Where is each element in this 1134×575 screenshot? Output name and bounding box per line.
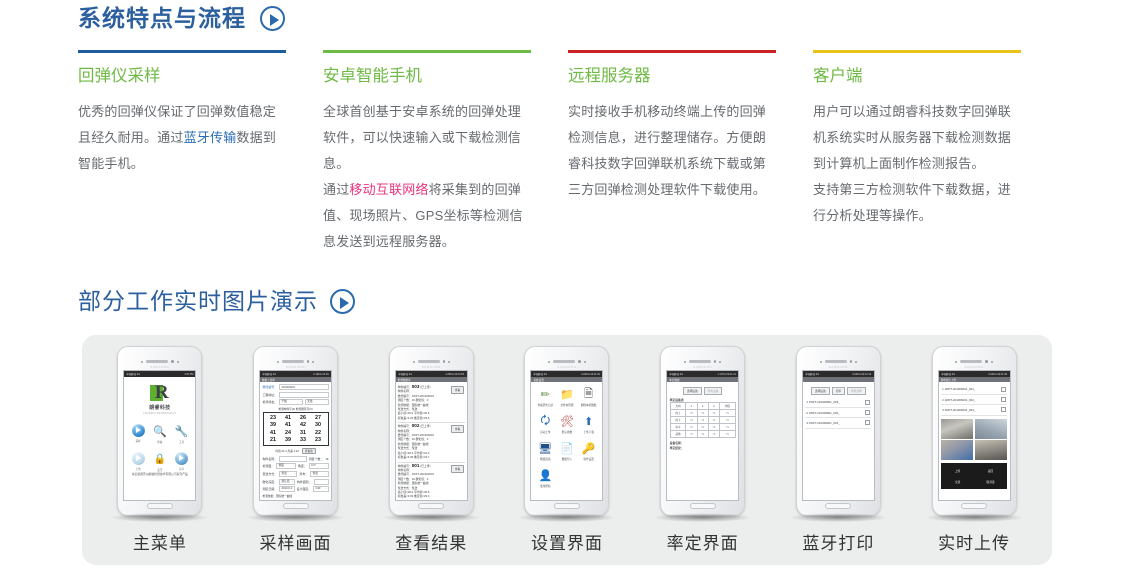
updown-icon: ⬆ <box>582 415 595 428</box>
speaker-grille <box>960 360 982 363</box>
print-screen: 选择设备 打印 所有选择 1 JWFT-201306001_003_ 2 JWF… <box>803 382 874 431</box>
phone-screen: 中国移动 4G 2.25K/s 00:10:53 检测数据库 构件编号：003 … <box>395 370 468 501</box>
chevron-right-icon: › <box>293 463 294 469</box>
menu-item-view[interactable]: 🔍 查看 <box>149 424 171 444</box>
settings-item-network[interactable]: 🖥 网络选项 <box>534 442 556 461</box>
settings-item-help[interactable]: 👤 使用帮助 <box>534 469 556 488</box>
play-circle-icon[interactable] <box>260 6 285 31</box>
settings-label: 自动上传 <box>540 430 550 434</box>
cell-value[interactable]: 79 <box>686 424 697 431</box>
surface-select[interactable]: 侧面› <box>276 463 296 469</box>
list-item-label: 3 JWFT-201306001_003_ <box>942 408 975 412</box>
settings-label: 查看历史记录 <box>538 403 554 407</box>
rebound-value: 24 <box>285 430 291 436</box>
record-line: 标准差=4.29 推定值=29.6 <box>398 416 465 420</box>
cell-value: 79 <box>719 424 735 431</box>
settings-item-defaults[interactable]: 🛠 默认参数 <box>556 415 578 434</box>
address-input[interactable] <box>279 392 329 398</box>
phone-mockup-sampling[interactable]: SAMSUNG 中国移动 4G 0.19K/s 01:03 数据上送单 委托编号… <box>236 346 356 554</box>
form-row-pump: 泵送方式： 泵送› 筹布： 泵送› <box>263 471 329 477</box>
column-title: 安卓智能手机 <box>323 67 533 85</box>
photo-core-drill[interactable] <box>941 419 973 439</box>
row-direction: 水平 <box>670 424 686 431</box>
phone-screen: 中国移动 4G 1.17K/s 00:11:21 率定数据 选择设备 所有设备 … <box>666 370 739 501</box>
form-row-carbonation: 碳化深度： 默认值› 构件面积： <box>263 479 329 485</box>
phone-caption: 实时上传 <box>938 529 1010 554</box>
phone-mockup-main-menu[interactable]: SAMSUNG 中国移动 4G 4:30 PM R 朗睿科技 LANGRUI T… <box>100 346 220 554</box>
rebound-value: 41 <box>270 430 276 436</box>
phone-earpiece <box>395 358 468 365</box>
record-no: 001 <box>412 463 420 468</box>
column-header: 均值 <box>719 403 735 410</box>
table-row: 向下 79 79 79 79 <box>670 417 735 424</box>
phone-earpiece <box>802 358 875 365</box>
tab-print[interactable]: 打印 <box>832 387 845 395</box>
phone-frame: SAMSUNG 中国移动 4G 0.19K/s 01:03 数据上送单 委托编号… <box>253 346 338 516</box>
field-label: 检测面： <box>263 464 275 468</box>
sensor-dot-icon <box>141 361 143 363</box>
led-dot-icon <box>855 361 857 363</box>
status-carrier: 中国移动 4G <box>670 372 684 376</box>
column-body: 实时接收手机移动终端上传的回弹检测信息，进行整理储存。方便朗睿科技数字回弹联机系… <box>568 99 778 203</box>
help-icon: 👤 <box>539 469 552 482</box>
home-button[interactable] <box>418 503 444 509</box>
tab-select-device[interactable]: 选择设备 <box>683 387 702 395</box>
cloud-icon <box>132 452 145 465</box>
chevron-right-icon: › <box>326 486 327 492</box>
result-record[interactable]: 构件编号：002 (已上传) 构件名称： 委托编号：JWFT-201303001… <box>398 423 465 462</box>
rebound-value: 22 <box>315 430 321 436</box>
speaker-grille <box>282 360 304 363</box>
back-button[interactable]: 返回 <box>974 469 1007 473</box>
column-body: 用户可以通过朗睿科技数字回弹联机系统实时从服务器下载检测数据到计算机上面制作检测… <box>813 99 1023 229</box>
phone-caption: 率定界面 <box>667 529 739 554</box>
phone-screen: 中国移动 4G 0.19K/s 01:03 数据上送单 委托编号： 201303… <box>259 370 332 501</box>
status-carrier: 中国移动 4G <box>805 372 819 376</box>
sensor-dot-icon <box>277 361 279 363</box>
layout-select[interactable]: 泵送› <box>310 471 328 477</box>
menu-icon-grid: 采样 🔍 查看 🔧 工具 <box>127 424 192 472</box>
settings-item-import[interactable]: 📄 数据导入 <box>556 442 578 461</box>
deselect-button[interactable]: 取消选 <box>974 480 1007 484</box>
led-dot-icon <box>584 361 586 363</box>
settings-screen: ✏ 查看历史记录 📁 文件夹管理 🗎 删除本机数据 <box>531 382 602 488</box>
record-line: 标准差=4.99 推定值=23.7 <box>398 455 465 459</box>
rebound-value: 23 <box>270 415 276 421</box>
logo-company-cn: 朗睿科技 <box>149 404 170 411</box>
menu-label: 上传 <box>136 467 141 471</box>
home-button[interactable] <box>554 503 580 509</box>
field-label: 测区日期： <box>263 487 277 491</box>
tools-icon: 🔧 <box>175 424 189 438</box>
rebound-value: 33 <box>300 437 306 443</box>
sync-icon: 🗘 <box>539 415 552 428</box>
chevron-right-icon: › <box>295 471 296 477</box>
settings-item-folder[interactable]: 📁 文件夹管理 <box>556 388 578 407</box>
import-icon: 📄 <box>560 442 573 455</box>
table-row: 水平 79 79 79 79 <box>670 424 735 431</box>
phone-caption: 设置界面 <box>531 529 603 554</box>
pencil-icon: ✏ <box>539 388 552 401</box>
list-item[interactable]: 2 JWFT-201306001_002_ <box>941 395 1007 405</box>
camera-dot-icon <box>714 360 717 363</box>
camera-dot-icon <box>578 360 581 363</box>
phone-frame: SAMSUNG 中国移动 4G 0.00K/s 00:11:02 系统设置 ✏ <box>524 346 609 516</box>
column-header: 3 <box>708 403 719 410</box>
view-record-button[interactable]: 查看 <box>451 465 463 473</box>
view-record-button[interactable]: 查看 <box>451 386 463 394</box>
body-paragraph-1: 实时接收手机移动终端上传的回弹检测信息，进行整理储存。方便朗睿科技数字回弹联机系… <box>568 99 778 203</box>
pump-select[interactable]: 泵送› <box>279 471 297 477</box>
key-icon: 🔑 <box>582 442 595 455</box>
field-label-2: 角度： <box>298 464 307 468</box>
cell-value[interactable]: 79 <box>697 431 708 438</box>
list-item[interactable]: 2 JWFT-201306001_002_ <box>805 408 871 418</box>
cell-value[interactable]: 79 <box>708 424 719 431</box>
speaker-grille <box>418 360 440 363</box>
speaker-grille <box>553 360 575 363</box>
cell-value[interactable]: 79 <box>708 431 719 438</box>
table-header-row: 方向 1 2 3 均值 <box>670 403 735 410</box>
chevron-right-icon: › <box>326 399 327 405</box>
select-value: 2013-6-1 <box>282 486 293 492</box>
settings-label: 文件夹管理 <box>560 403 573 407</box>
result-record[interactable]: 构件编号：001 (已上传) 构件名称： 委托编号：JWFT-201303001… <box>398 463 465 502</box>
home-button[interactable] <box>690 503 716 509</box>
tab-select-all[interactable]: 所有选择 <box>847 387 866 395</box>
view-values-button[interactable]: 查看值 <box>302 448 316 454</box>
strength-select[interactable]: C30› <box>313 486 329 492</box>
checkbox[interactable] <box>1001 397 1006 402</box>
langrui-logo-icon: R <box>150 383 170 403</box>
form-row-component: 构件名称： 测区个数： 16 <box>263 456 329 462</box>
select-all-button[interactable]: 全选 <box>941 480 974 484</box>
home-button[interactable] <box>825 503 851 509</box>
feature-column-3: 远程服务器 实时接收手机移动终端上传的回弹检测信息，进行整理储存。方便朗睿科技数… <box>568 50 813 255</box>
select-value: 默认值 <box>282 479 290 485</box>
rebound-value: 39 <box>270 422 276 428</box>
rebound-value: 31 <box>300 430 306 436</box>
standard-footer: 检测依据：国家统一曲线 <box>263 494 329 498</box>
app-title: 现场照片上传 <box>941 378 957 382</box>
cell-value[interactable]: 79 <box>697 410 708 417</box>
record-no: 003 <box>412 384 420 389</box>
status-clock: 4:30 PM <box>184 373 193 376</box>
checkbox[interactable] <box>865 410 870 415</box>
feature-column-1: 回弹仪采样 优秀的回弹仪保证了回弹数值稳定且经久耐用。通过蓝牙传输数据到智能手机… <box>78 50 323 255</box>
cell-value[interactable]: 79 <box>686 410 697 417</box>
phone-frame: SAMSUNG 中国移动 4G 0.00K/s 00:12:13 选择设备 打印… <box>796 346 881 516</box>
play-circle-icon[interactable] <box>330 289 355 314</box>
photo-rebound-hammer[interactable] <box>975 440 1007 460</box>
photo-grid <box>941 419 1007 461</box>
calibration-result-label: 率定结论： <box>670 446 736 451</box>
tab-select-device[interactable]: 选择设备 <box>811 387 830 395</box>
column-rule <box>323 50 531 53</box>
list-item[interactable]: 1 JWFT-201306001_003_ <box>805 398 871 408</box>
chevron-right-icon: › <box>326 471 327 477</box>
results-list: 构件编号：003 (已上传) 构件名称： 委托编号：JWFT-201303001… <box>396 382 467 501</box>
menu-item-upload[interactable]: 上传 <box>127 452 149 472</box>
rebound-value: 26 <box>300 415 306 421</box>
speaker-grille <box>689 360 711 363</box>
upload-button[interactable]: 上传 <box>941 469 974 473</box>
status-carrier: 中国移动 4G <box>534 372 548 376</box>
menu-item-tools[interactable]: 🔧 工具 <box>171 424 193 444</box>
cell-value[interactable]: 79 <box>708 417 719 424</box>
feature-column-4: 客户端 用户可以通过朗睿科技数字回弹联机系统实时从服务器下载检测数据到计算机上面… <box>813 50 1058 255</box>
phone-earpiece <box>938 358 1011 365</box>
field-label-2: 构件面积： <box>297 480 311 484</box>
home-button[interactable] <box>283 503 309 509</box>
sensor-dot-icon <box>820 361 822 363</box>
rebound-number-grid[interactable]: 23 41 26 27 39 41 42 30 41 24 31 22 <box>263 412 329 446</box>
rebound-value: 23 <box>315 437 321 443</box>
play-ball-icon <box>132 424 145 437</box>
led-dot-icon <box>991 361 993 363</box>
form-row-surface: 检测面： 侧面› 角度： 0.0°› <box>263 463 329 469</box>
phone-mockup-bluetooth-print[interactable]: SAMSUNG 中国移动 4G 0.00K/s 00:12:13 选择设备 打印… <box>778 346 898 554</box>
settings-item-delete-data[interactable]: 🗎 删除本机数据 <box>578 388 600 407</box>
led-dot-icon <box>719 361 721 363</box>
cell-value[interactable]: 79 <box>697 417 708 424</box>
field-label: 工程地址： <box>263 393 277 397</box>
column-rule <box>78 50 286 53</box>
app-title: 检测数据库 <box>398 378 411 382</box>
status-carrier: 中国移动 4G <box>398 372 412 376</box>
menu-item-print[interactable]: 打印 <box>171 452 193 472</box>
body-paragraph-1: 全球首创基于安卓系统的回弹处理软件，可以快速输入或下载检测信息。 <box>323 99 533 177</box>
phone-screen: 中国移动 4G 0.00K/s 00:12:13 选择设备 打印 所有选择 <box>802 370 875 501</box>
phone-caption: 采样画面 <box>260 529 332 554</box>
phone-frame: SAMSUNG 中国移动 4G 1.17K/s 00:11:21 率定数据 选择… <box>660 346 745 516</box>
logo-letter: R <box>155 383 170 403</box>
record-no: 002 <box>412 423 420 428</box>
phone-gallery-panel: SAMSUNG 中国移动 4G 4:30 PM R 朗睿科技 LANGRUI T… <box>82 335 1052 565</box>
state-select[interactable]: 干燥› <box>279 399 303 405</box>
main-menu-screen: R 朗睿科技 LANGRUI TECHNOLOGY 采样 🔍 查看 <box>124 377 195 479</box>
phone-earpiece <box>123 358 196 365</box>
column-header: 方向 <box>670 403 686 410</box>
column-header: 2 <box>697 403 708 410</box>
status-clock: 0.00K/s 00:11:09 <box>989 373 1007 376</box>
form-row-order-no: 委托编号： 201303001 <box>263 384 329 390</box>
phone-caption: 蓝牙打印 <box>802 529 874 554</box>
calibration-footer: 设备名称： 率定结论： <box>670 441 736 451</box>
cell-value: 79 <box>719 410 735 417</box>
chevron-right-icon: › <box>326 463 327 469</box>
camera-dot-icon <box>307 360 310 363</box>
upload-screen: 1 JWFT-201306001_001_ 2 JWFT-201306001_0… <box>939 382 1010 492</box>
checkbox[interactable] <box>865 420 870 425</box>
phone-mockup-realtime-upload[interactable]: SAMSUNG 中国移动 4G 0.00K/s 00:11:09 现场照片上传 … <box>914 346 1034 554</box>
phone-caption: 主菜单 <box>133 529 187 554</box>
app-title: 数据上送单 <box>262 378 275 382</box>
menu-label: 工具 <box>179 440 184 444</box>
form-row-address: 工程地址： <box>263 392 329 398</box>
settings-item-transfer[interactable]: ⬆ 上传下载 <box>578 415 600 434</box>
sensor-dot-icon <box>955 361 957 363</box>
angle-select[interactable]: 0.0°› <box>309 463 329 469</box>
feature-column-2: 安卓智能手机 全球首创基于安卓系统的回弹处理软件，可以快速输入或下载检测信息。 … <box>323 50 568 255</box>
body-paragraph-2: 支持第三方检测软件下载数据，进行分析处理等操作。 <box>813 177 1023 229</box>
stat-text: 均值:31.4 离差:1.42 <box>275 449 298 453</box>
column-body: 全球首创基于安卓系统的回弹处理软件，可以快速输入或下载检测信息。 通过移动互联网… <box>323 99 533 255</box>
form-row-date: 测区日期： 2013-6-1 设计强度： C30› <box>263 486 329 492</box>
photo-worker[interactable] <box>941 440 973 460</box>
form-row-state: 检测状态： 干燥› 无筋› <box>263 399 329 405</box>
phone-frame: SAMSUNG 中国移动 4G 2.25K/s 00:10:53 检测数据库 构… <box>389 346 474 516</box>
rebound-value: 41 <box>285 415 291 421</box>
area-input[interactable] <box>314 479 329 485</box>
rebound-value: 21 <box>270 437 276 443</box>
rebar-select[interactable]: 无筋› <box>305 399 329 405</box>
phone-mockup-calibration[interactable]: SAMSUNG 中国移动 4G 1.17K/s 00:11:21 率定数据 选择… <box>643 346 763 554</box>
menu-item-bluetooth[interactable]: 🔒 蓝牙 <box>149 452 171 472</box>
home-button-row <box>123 501 196 511</box>
checkbox[interactable] <box>1001 407 1006 412</box>
camera-dot-icon <box>443 360 446 363</box>
order-no-input[interactable]: 201303001 <box>279 384 329 390</box>
home-button-row <box>802 501 875 511</box>
cell-value[interactable]: 79 <box>686 431 697 438</box>
cell-value[interactable]: 79 <box>697 424 708 431</box>
list-item-label: 2 JWFT-201306001_002_ <box>806 411 839 415</box>
sampling-form: 委托编号： 201303001 工程地址： 检测状态： 干燥› 无筋› 检测 <box>260 382 331 500</box>
select-value: 无筋 <box>307 399 312 405</box>
home-button[interactable] <box>961 503 987 509</box>
field-label: 构件名称： <box>263 457 277 461</box>
select-value: C30 <box>316 486 321 492</box>
sensor-dot-icon <box>684 361 686 363</box>
rebound-value: 41 <box>285 422 291 428</box>
phone-frame: SAMSUNG 中国移动 4G 4:30 PM R 朗睿科技 LANGRUI T… <box>117 346 202 516</box>
print-tabs: 选择设备 打印 所有选择 <box>805 387 871 395</box>
settings-label: 上传下载 <box>583 430 593 434</box>
gallery-title: 部分工作实时图片演示 <box>78 290 318 313</box>
select-value: 干燥 <box>282 399 287 405</box>
chevron-right-icon: › <box>300 399 301 405</box>
date-select[interactable]: 2013-6-1 <box>279 486 295 492</box>
status-clock: 1.17K/s 00:11:21 <box>717 373 735 376</box>
camera-dot-icon <box>171 360 174 363</box>
status-carrier: 中国移动 4G <box>127 372 141 376</box>
speaker-grille <box>825 360 847 363</box>
feature-columns: 回弹仪采样 优秀的回弹仪保证了回弹数值稳定且经久耐用。通过蓝牙传输数据到智能手机… <box>78 50 1058 255</box>
wrench-icon: 🛠 <box>560 415 573 428</box>
printer-icon <box>175 452 188 465</box>
field-label: 委托编号： <box>263 385 277 389</box>
menu-label: 采样 <box>136 439 141 443</box>
speaker-grille <box>146 360 168 363</box>
home-button[interactable] <box>147 503 173 509</box>
cell-value[interactable]: 79 <box>708 410 719 417</box>
rebound-value: 27 <box>315 415 321 421</box>
list-item[interactable]: 1 JWFT-201306001_001_ <box>941 385 1007 395</box>
status-carrier: 中国移动 4G <box>262 372 276 376</box>
status-clock: 0.19K/s 01:03 <box>313 373 328 376</box>
carbonation-select[interactable]: 默认值› <box>279 479 295 485</box>
menu-item-sampling[interactable]: 采样 <box>127 424 149 444</box>
status-clock: 0.00K/s 00:12:13 <box>853 373 872 376</box>
column-rule <box>813 50 1021 53</box>
home-button-row <box>259 501 332 511</box>
cell-value: 79 <box>719 431 735 438</box>
field-label: 泵送方式： <box>263 472 277 476</box>
record-tag: (已上传) <box>420 385 430 389</box>
photo-building[interactable] <box>975 419 1007 439</box>
row-direction: 向下 <box>670 417 686 424</box>
body-highlight: 蓝牙传输 <box>184 130 237 145</box>
cell-value[interactable]: 79 <box>686 417 697 424</box>
sensor-dot-icon <box>413 361 415 363</box>
record-line: 标准差=3.63 推定值=29.3 <box>398 494 465 498</box>
folder-edit-icon: 📁 <box>560 388 573 401</box>
body-paragraph-1: 用户可以通过朗睿科技数字回弹联机系统实时从服务器下载检测数据到计算机上面制作检测… <box>813 99 1023 177</box>
home-button-row <box>395 501 468 511</box>
led-dot-icon <box>177 361 179 363</box>
body-paragraph-2: 通过移动互联网络将采集到的回弹值、现场照片、GPS坐标等检测信息发送到远程服务器… <box>323 177 533 255</box>
settings-label: 数据导入 <box>562 457 572 461</box>
bluetooth-icon: 🔒 <box>153 452 167 466</box>
list-item-label: 3 JWFT-201306001_001_ <box>806 421 839 425</box>
led-dot-icon <box>312 361 314 363</box>
select-value: 侧面 <box>279 463 284 469</box>
field-label-2: 设计强度： <box>297 487 311 491</box>
select-value: 0.0° <box>311 463 316 469</box>
select-value: 泵送 <box>313 471 318 477</box>
settings-label: 网络选项 <box>540 457 550 461</box>
magnifier-icon: 🔍 <box>153 424 167 438</box>
tab-all-devices[interactable]: 所有设备 <box>704 387 723 395</box>
component-name-input[interactable] <box>279 456 307 462</box>
settings-item-history[interactable]: ✏ 查看历史记录 <box>534 388 556 407</box>
database-icon: 🗎 <box>582 388 595 401</box>
phone-mockup-results[interactable]: SAMSUNG 中国移动 4G 2.25K/s 00:10:53 检测数据库 构… <box>371 346 491 554</box>
cell-value: 79 <box>719 417 735 424</box>
page-title: 系统特点与流程 <box>78 7 246 30</box>
table-row: 向上 79 79 79 79 <box>670 410 735 417</box>
record-tag: (已上传) <box>420 424 430 428</box>
view-record-button[interactable]: 查看 <box>451 425 463 433</box>
row-direction: 其他 <box>670 431 686 438</box>
camera-dot-icon <box>850 360 853 363</box>
settings-item-auto-upload[interactable]: 🗘 自动上传 <box>534 415 556 434</box>
settings-item-software[interactable]: 🔑 软件设置 <box>578 442 600 461</box>
phone-earpiece <box>666 358 739 365</box>
grid-header-label: 检测构件号(0) 检测测区号(0) <box>263 407 329 411</box>
settings-label: 删除本机数据 <box>581 403 597 407</box>
table-row: 其他 79 79 79 79 <box>670 431 735 438</box>
phone-earpiece <box>259 358 332 365</box>
settings-label: 使用帮助 <box>540 484 550 488</box>
checkbox[interactable] <box>1001 387 1006 392</box>
home-button-row <box>666 501 739 511</box>
checkbox[interactable] <box>865 400 870 405</box>
result-record[interactable]: 构件编号：003 (已上传) 构件名称： 委托编号：JWFT-201303001… <box>398 384 465 423</box>
list-item[interactable]: 3 JWFT-201306001_001_ <box>805 418 871 428</box>
list-item-label: 2 JWFT-201306001_002_ <box>942 398 975 402</box>
field-label-2: 测区个数： <box>309 457 323 461</box>
phone-mockup-settings[interactable]: SAMSUNG 中国移动 4G 0.00K/s 00:11:02 系统设置 ✏ <box>507 346 627 554</box>
phone-earpiece <box>530 358 603 365</box>
list-item[interactable]: 3 JWFT-201306001_003_ <box>941 405 1007 415</box>
photo-action-bar: 上传 返回 全选 取消选 <box>941 463 1007 489</box>
section-gallery-header: 部分工作实时图片演示 <box>78 289 355 314</box>
status-carrier: 中国移动 4G <box>941 372 955 376</box>
list-item-label: 1 JWFT-201306001_003_ <box>806 400 839 404</box>
app-title: 系统设置 <box>533 378 543 382</box>
